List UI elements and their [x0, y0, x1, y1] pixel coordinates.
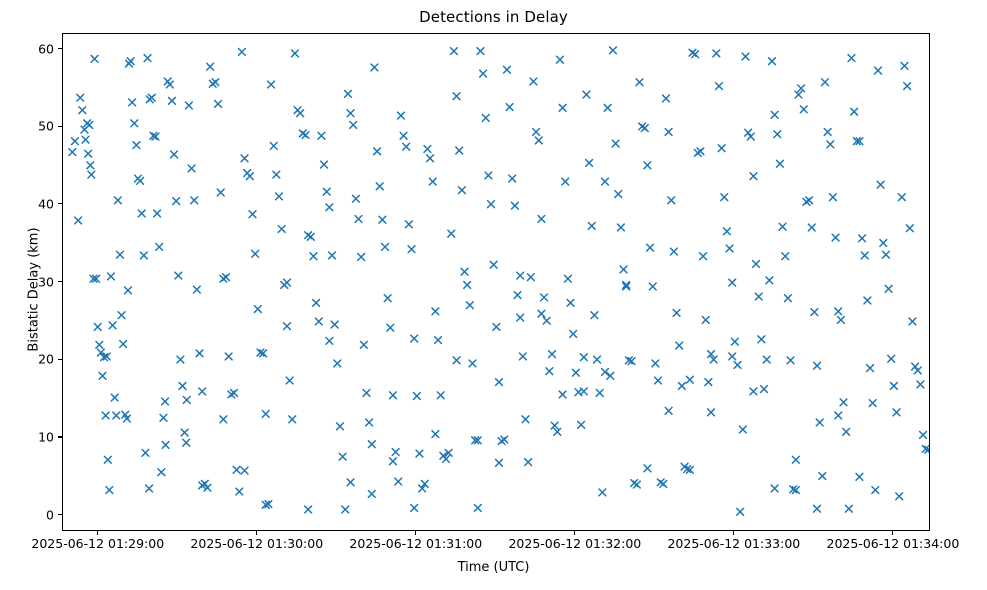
scatter-point	[191, 197, 198, 204]
scatter-point	[782, 253, 789, 260]
scatter-point	[334, 360, 341, 367]
scatter-point	[792, 456, 799, 463]
scatter-point	[557, 56, 564, 63]
scatter-point	[220, 416, 227, 423]
scatter-point	[731, 338, 738, 345]
scatter-point	[777, 160, 784, 167]
scatter-point	[166, 81, 173, 88]
scatter-point	[173, 198, 180, 205]
scatter-point	[504, 66, 511, 73]
scatter-point	[506, 104, 513, 111]
scatter-point	[427, 155, 434, 162]
scatter-point	[127, 58, 134, 65]
scatter-point	[387, 324, 394, 331]
scatter-point	[113, 412, 120, 419]
scatter-point	[114, 197, 121, 204]
scatter-point	[451, 48, 458, 55]
scatter-point	[678, 383, 685, 390]
scatter-point	[716, 83, 723, 90]
scatter-point	[660, 480, 667, 487]
scatter-point	[898, 194, 905, 201]
scatter-point	[371, 64, 378, 71]
scatter-point	[270, 142, 277, 149]
scatter-point	[490, 261, 497, 268]
scatter-point	[843, 428, 850, 435]
scatter-point	[774, 131, 781, 138]
x-tick-mark	[97, 531, 98, 535]
scatter-point	[808, 224, 815, 231]
scatter-point	[347, 110, 354, 117]
scatter-point	[827, 141, 834, 148]
x-tick-mark	[415, 531, 416, 535]
scatter-point	[196, 350, 203, 357]
scatter-point	[398, 112, 405, 119]
scatter-point	[477, 48, 484, 55]
scatter-point	[453, 357, 460, 364]
scatter-point	[758, 336, 765, 343]
scatter-point	[144, 55, 151, 62]
scatter-point	[702, 317, 709, 324]
scatter-point	[724, 228, 731, 235]
scatter-point	[604, 104, 611, 111]
scatter-point	[591, 312, 598, 319]
scatter-point	[546, 368, 553, 375]
scatter-point	[673, 310, 680, 317]
scatter-point	[458, 187, 465, 194]
scatter-point	[535, 137, 542, 144]
scatter-point	[456, 147, 463, 154]
scatter-point	[869, 400, 876, 407]
scatter-point	[443, 456, 450, 463]
scatter-point	[779, 223, 786, 230]
scatter-point	[890, 383, 897, 390]
scatter-point	[466, 302, 473, 309]
scatter-point	[769, 58, 776, 65]
x-tick-mark	[733, 531, 734, 535]
scatter-point	[482, 115, 489, 122]
scatter-point	[875, 67, 882, 74]
scatter-point	[737, 508, 744, 515]
scatter-point	[72, 138, 79, 145]
scatter-point	[236, 488, 243, 495]
scatter-point	[400, 132, 407, 139]
scatter-point	[551, 422, 558, 429]
scatter-point	[726, 245, 733, 252]
scatter-point	[106, 487, 113, 494]
scatter-point	[416, 450, 423, 457]
scatter-point	[636, 79, 643, 86]
scatter-point	[347, 479, 354, 486]
figure-canvas: Detections in Delay Bistatic Delay (km) …	[0, 0, 987, 590]
scatter-point	[252, 250, 259, 257]
scatter-point	[580, 388, 587, 395]
scatter-point	[787, 357, 794, 364]
scatter-point	[745, 129, 752, 136]
scatter-point	[663, 95, 670, 102]
scatter-point	[517, 272, 524, 279]
scatter-point	[559, 391, 566, 398]
x-tick-mark	[892, 531, 893, 535]
scatter-point	[368, 441, 375, 448]
scatter-point	[612, 140, 619, 147]
scatter-point	[223, 274, 230, 281]
scatter-point	[856, 473, 863, 480]
scatter-point	[403, 143, 410, 150]
scatter-point	[376, 183, 383, 190]
scatter-point	[904, 83, 911, 90]
scatter-point	[177, 356, 184, 363]
scatter-point	[708, 409, 715, 416]
scatter-point	[318, 132, 325, 139]
scatter-point	[366, 419, 373, 426]
scatter-point	[565, 275, 572, 282]
scatter-point	[162, 398, 169, 405]
scatter-point	[514, 292, 521, 299]
scatter-point	[342, 506, 349, 513]
scatter-point	[543, 317, 550, 324]
scatter-point	[538, 216, 545, 223]
scatter-point	[602, 178, 609, 185]
scatter-point	[239, 48, 246, 55]
scatter-point	[358, 254, 365, 261]
scatter-point	[920, 431, 927, 438]
scatter-point	[816, 419, 823, 426]
scatter-point	[405, 221, 412, 228]
scatter-point	[183, 439, 190, 446]
scatter-point	[199, 388, 206, 395]
scatter-point	[77, 94, 84, 101]
scatter-point	[562, 178, 569, 185]
scatter-point	[806, 197, 813, 204]
scatter-point	[109, 322, 116, 329]
scatter-point	[160, 414, 167, 421]
scatter-point	[750, 388, 757, 395]
scatter-point	[360, 341, 367, 348]
scatter-point	[289, 416, 296, 423]
scatter-point	[914, 367, 921, 374]
scatter-point	[179, 383, 186, 390]
scatter-point	[175, 272, 182, 279]
scatter-point	[125, 287, 132, 294]
scatter-point	[822, 79, 829, 86]
scatter-point	[185, 102, 192, 109]
scatter-point	[814, 505, 821, 512]
scatter-point	[169, 97, 176, 104]
scatter-point	[352, 195, 359, 202]
x-tick-label: 2025-06-12 01:31:00	[349, 536, 482, 551]
scatter-point	[835, 308, 842, 315]
scatter-point	[171, 151, 178, 158]
scatter-series	[69, 47, 930, 515]
scatter-point	[339, 453, 346, 460]
scatter-point	[734, 362, 741, 369]
scatter-point	[718, 145, 725, 152]
scatter-point	[501, 436, 508, 443]
scatter-point	[464, 282, 471, 289]
scatter-point	[276, 193, 283, 200]
scatter-point	[570, 330, 577, 337]
scatter-point	[284, 323, 291, 330]
scatter-point	[811, 309, 818, 316]
scatter-point	[893, 409, 900, 416]
scatter-point	[140, 252, 147, 259]
scatter-point	[96, 341, 103, 348]
scatter-point	[644, 465, 651, 472]
scatter-point	[665, 407, 672, 414]
scatter-point	[94, 324, 101, 331]
scatter-point	[156, 243, 163, 250]
scatter-point	[137, 177, 144, 184]
scatter-point	[268, 81, 275, 88]
scatter-point	[580, 354, 587, 361]
scatter-point	[750, 173, 757, 180]
scatter-point	[374, 148, 381, 155]
scatter-point	[633, 481, 640, 488]
scatter-point	[146, 485, 153, 492]
scatter-point	[686, 376, 693, 383]
scatter-point	[496, 459, 503, 466]
scatter-point	[411, 505, 418, 512]
scatter-point	[408, 246, 415, 253]
scatter-point	[469, 360, 476, 367]
scatter-point	[104, 456, 111, 463]
scatter-point	[814, 362, 821, 369]
scatter-point	[138, 210, 145, 217]
scatter-point	[880, 240, 887, 247]
scatter-point	[848, 55, 855, 62]
x-tick-label: 2025-06-12 01:32:00	[508, 536, 641, 551]
scatter-point	[111, 394, 118, 401]
scatter-point	[859, 235, 866, 242]
scatter-point	[739, 426, 746, 433]
scatter-point	[390, 392, 397, 399]
scatter-point	[142, 449, 149, 456]
scatter-point	[830, 194, 837, 201]
scatter-point	[763, 356, 770, 363]
scatter-point	[379, 216, 386, 223]
scatter-point	[181, 429, 188, 436]
scatter-point	[154, 210, 161, 217]
scatter-point	[384, 295, 391, 302]
scatter-point	[851, 108, 858, 115]
scatter-point	[586, 160, 593, 167]
scatter-point	[909, 318, 916, 325]
scatter-point	[331, 321, 338, 328]
scatter-point	[315, 318, 322, 325]
scatter-point	[453, 93, 460, 100]
scatter-point	[912, 363, 919, 370]
scatter-point	[588, 223, 595, 230]
scatter-point	[519, 353, 526, 360]
scatter-point	[326, 204, 333, 211]
scatter-point	[578, 421, 585, 428]
scatter-point	[215, 101, 222, 108]
scatter-point	[594, 356, 601, 363]
scatter-point	[75, 217, 82, 224]
scatter-point	[278, 226, 285, 233]
scatter-point	[392, 449, 399, 456]
scatter-point	[668, 197, 675, 204]
scatter-point	[313, 299, 320, 306]
scatter-point	[615, 191, 622, 198]
scatter-point	[901, 62, 908, 69]
scatter-point	[297, 110, 304, 117]
scatter-point	[755, 293, 762, 300]
scatter-point	[85, 150, 92, 157]
scatter-point	[572, 369, 579, 376]
scatter-point	[917, 381, 924, 388]
scatter-point	[326, 337, 333, 344]
scatter-point	[877, 181, 884, 188]
scatter-point	[310, 253, 317, 260]
scatter-point	[148, 94, 155, 101]
scatter-point	[771, 485, 778, 492]
x-tick-mark	[256, 531, 257, 535]
scatter-point	[225, 353, 232, 360]
scatter-point	[435, 337, 442, 344]
scatter-point	[91, 55, 98, 62]
scatter-point	[824, 128, 831, 135]
scatter-point	[599, 489, 606, 496]
scatter-point	[413, 393, 420, 400]
scatter-point	[747, 133, 754, 140]
scatter-point	[620, 266, 627, 273]
scatter-point	[509, 175, 516, 182]
scatter-point	[429, 178, 436, 185]
scatter-point	[231, 390, 238, 397]
scatter-point	[567, 299, 574, 306]
scatter-point	[207, 63, 214, 70]
scatter-point	[530, 78, 537, 85]
scatter-point	[488, 201, 495, 208]
scatter-point	[676, 342, 683, 349]
scatter-point	[549, 351, 556, 358]
scatter-point	[162, 442, 169, 449]
scatter-point	[432, 308, 439, 315]
scatter-point	[800, 106, 807, 113]
scatter-point	[525, 459, 532, 466]
scatter-point	[867, 365, 874, 372]
scatter-point	[217, 189, 224, 196]
scatter-point	[610, 47, 617, 54]
scatter-point	[692, 51, 699, 58]
scatter-point	[721, 194, 728, 201]
scatter-point	[665, 128, 672, 135]
scatter-point	[117, 251, 124, 258]
scatter-point	[212, 79, 219, 86]
scatter-point	[131, 120, 138, 127]
scatter-point	[819, 473, 826, 480]
scatter-point	[647, 244, 654, 251]
scatter-point	[329, 252, 336, 259]
scatter-point	[554, 428, 561, 435]
x-tick-mark	[574, 531, 575, 535]
scatter-point	[355, 216, 362, 223]
scatter-point	[284, 279, 291, 286]
scatter-points-layer	[63, 34, 930, 531]
scatter-point	[480, 70, 487, 77]
scatter-point	[432, 431, 439, 438]
scatter-point	[618, 224, 625, 231]
scatter-point	[671, 248, 678, 255]
scatter-point	[382, 243, 389, 250]
scatter-point	[771, 111, 778, 118]
scatter-point	[517, 314, 524, 321]
scatter-point	[368, 491, 375, 498]
scatter-point	[840, 399, 847, 406]
scatter-point	[705, 379, 712, 386]
scatter-point	[82, 136, 89, 143]
x-tick-label: 2025-06-12 01:33:00	[667, 536, 800, 551]
scatter-point	[395, 478, 402, 485]
scatter-point	[246, 173, 253, 180]
scatter-point	[88, 171, 95, 178]
scatter-point	[158, 469, 165, 476]
scatter-point	[292, 50, 299, 57]
scatter-point	[655, 377, 662, 384]
scatter-point	[87, 162, 94, 169]
scatter-point	[129, 99, 136, 106]
scatter-point	[837, 317, 844, 324]
scatter-point	[474, 505, 481, 512]
scatter-point	[835, 412, 842, 419]
x-tick-label: 2025-06-12 01:29:00	[31, 536, 164, 551]
scatter-point	[193, 286, 200, 293]
scatter-point	[761, 386, 768, 393]
scatter-point	[411, 335, 418, 342]
scatter-point	[784, 295, 791, 302]
scatter-point	[118, 312, 125, 319]
scatter-point	[448, 230, 455, 237]
scatter-point	[201, 480, 208, 487]
scatter-point	[641, 125, 648, 132]
scatter-point	[697, 148, 704, 155]
scatter-point	[713, 50, 720, 57]
scatter-point	[99, 372, 106, 379]
scatter-point	[649, 283, 656, 290]
x-tick-label: 2025-06-12 01:30:00	[190, 536, 323, 551]
plot-area	[62, 33, 930, 531]
scatter-point	[766, 277, 773, 284]
scatter-point	[302, 132, 309, 139]
scatter-point	[485, 172, 492, 179]
scatter-point	[742, 53, 749, 60]
scatter-point	[188, 165, 195, 172]
scatter-point	[120, 341, 127, 348]
scatter-point	[241, 155, 248, 162]
scatter-point	[845, 505, 852, 512]
scatter-point	[795, 91, 802, 98]
scatter-point	[307, 233, 314, 240]
scatter-point	[511, 202, 518, 209]
scatter-point	[233, 466, 240, 473]
scatter-point	[79, 107, 86, 114]
scatter-point	[798, 85, 805, 92]
scatter-point	[350, 122, 357, 129]
scatter-point	[254, 306, 261, 313]
scatter-point	[527, 274, 534, 281]
scatter-point	[906, 225, 913, 232]
scatter-point	[323, 188, 330, 195]
scatter-point	[183, 397, 190, 404]
scatter-point	[522, 416, 529, 423]
scatter-point	[753, 261, 760, 268]
scatter-point	[533, 128, 540, 135]
scatter-point	[644, 162, 651, 169]
scatter-point	[583, 91, 590, 98]
scatter-point	[262, 411, 269, 418]
scatter-point	[541, 294, 548, 301]
